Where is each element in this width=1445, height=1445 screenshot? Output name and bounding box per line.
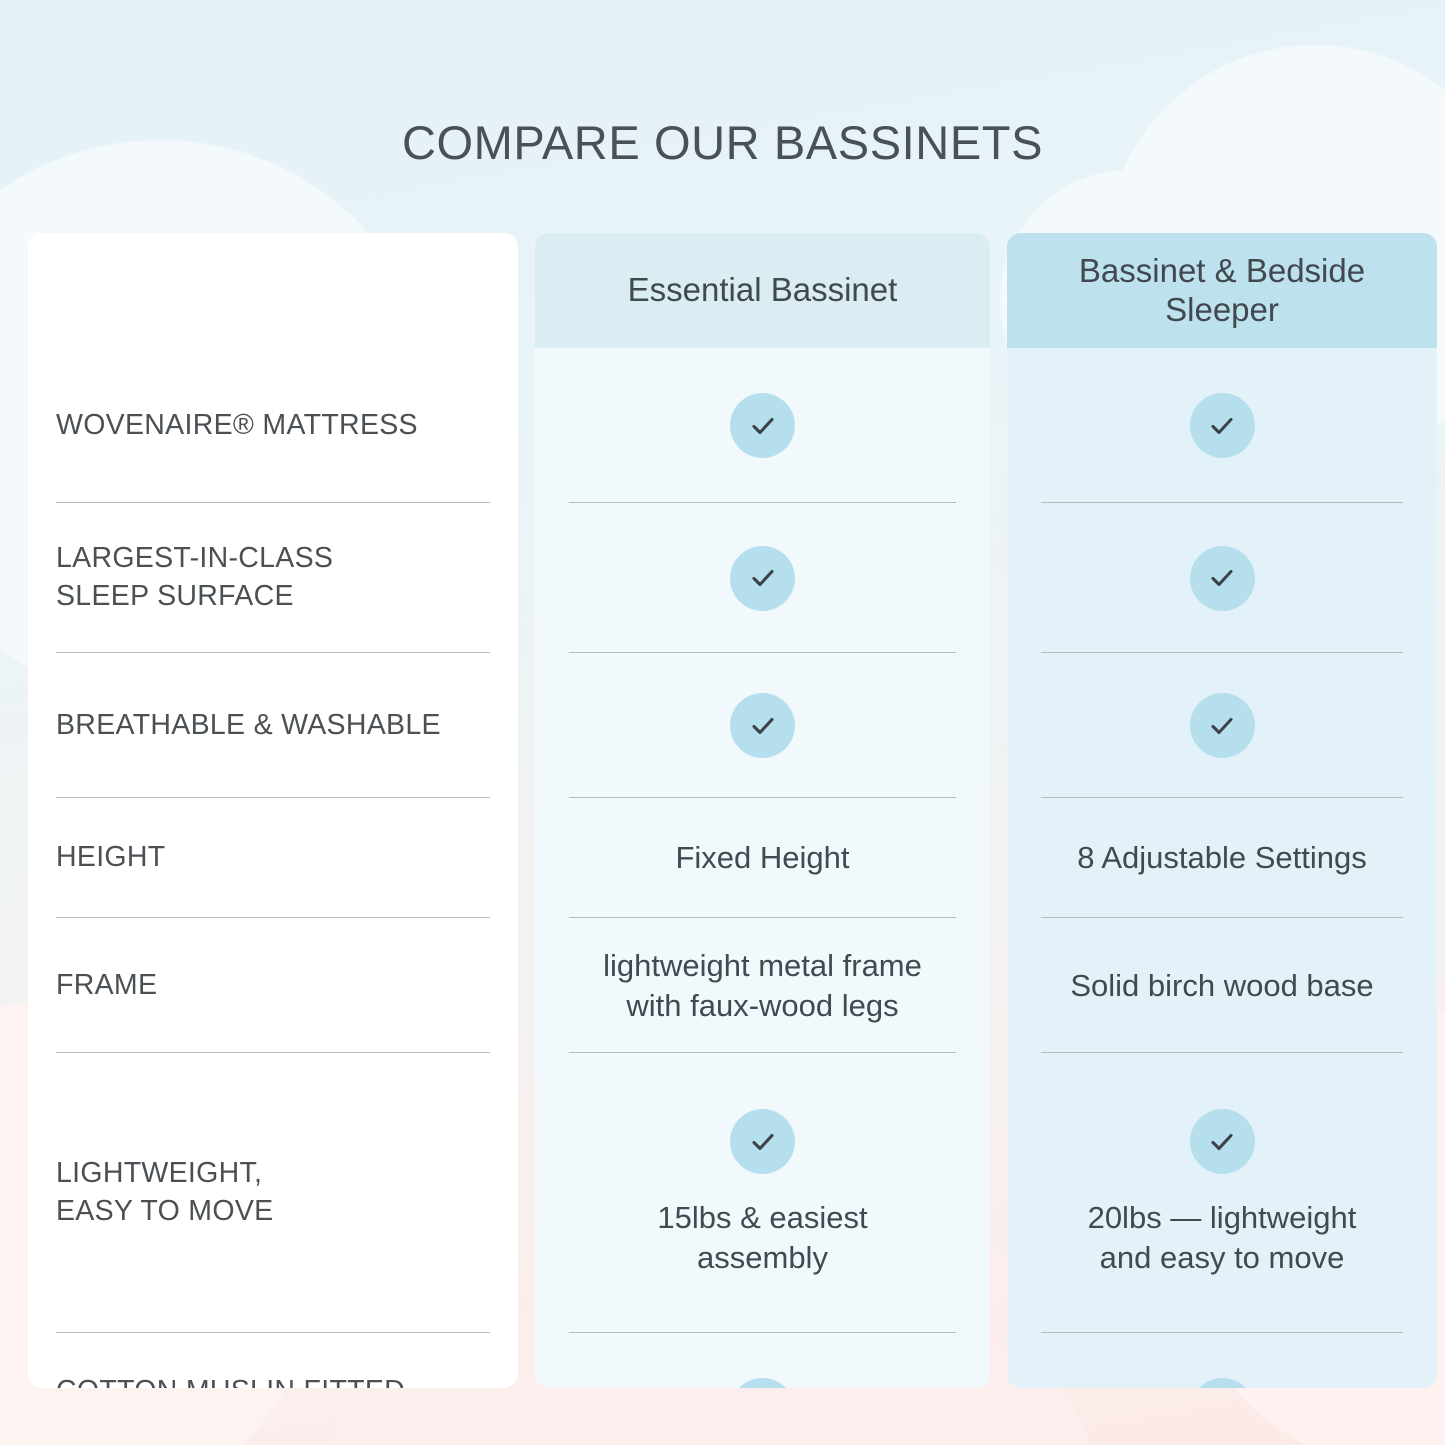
check-icon [730, 393, 795, 458]
feature-row-height: HEIGHT [28, 798, 518, 918]
feature-label: WOVENAIRE® MATTRESS [56, 407, 418, 445]
feature-row-lightweight-easy-to-move: LIGHTWEIGHT, EASY TO MOVE [28, 1053, 518, 1333]
feature-label: FRAME [56, 967, 157, 1005]
value-cell-wovenaire-mattress [535, 348, 990, 503]
check-icon [730, 1109, 795, 1174]
check-icon [730, 1378, 795, 1388]
value-text: 8 Adjustable Settings [1077, 838, 1367, 877]
label-column-header-blank [28, 233, 518, 348]
value-text: lightweight metal frame with faux-wood l… [603, 946, 922, 1025]
product-value-list-essential-bassinet: Fixed Height lightweight metal frame wit… [535, 348, 990, 1388]
check-icon [1190, 546, 1255, 611]
feature-row-frame: FRAME [28, 918, 518, 1053]
check-icon [730, 693, 795, 758]
value-text: 15lbs & easiest assembly [657, 1198, 867, 1277]
value-cell-lightweight-easy-to-move: 15lbs & easiest assembly [535, 1053, 990, 1333]
feature-label: LIGHTWEIGHT, EASY TO MOVE [56, 1155, 273, 1231]
value-cell-cotton-muslin-fitted-sheet [535, 1333, 990, 1388]
value-cell-height: 8 Adjustable Settings [1007, 798, 1437, 918]
feature-label-column: WOVENAIRE® MATTRESS LARGEST-IN-CLASS SLE… [28, 233, 518, 1388]
check-icon [1190, 393, 1255, 458]
value-cell-frame: lightweight metal frame with faux-wood l… [535, 918, 990, 1053]
product-column-bassinet-bedside-sleeper[interactable]: Bassinet & Bedside Sleeper 8 Adjustable … [1007, 233, 1437, 1388]
check-icon [1190, 1109, 1255, 1174]
feature-label: BREATHABLE & WASHABLE [56, 707, 441, 745]
value-cell-frame: Solid birch wood base [1007, 918, 1437, 1053]
value-cell-cotton-muslin-fitted-sheet [1007, 1333, 1437, 1388]
check-icon [1190, 1378, 1255, 1388]
value-text: Fixed Height [675, 838, 849, 877]
value-text: 20lbs — lightweight and easy to move [1088, 1198, 1357, 1277]
feature-row-breathable-washable: BREATHABLE & WASHABLE [28, 653, 518, 798]
value-cell-largest-in-class-sleep-surface [1007, 503, 1437, 653]
feature-row-cotton-muslin-fitted-sheet: COTTON MUSLIN FITTED SHEET INCLUDED [28, 1333, 518, 1388]
check-icon [730, 546, 795, 611]
value-cell-height: Fixed Height [535, 798, 990, 918]
value-cell-wovenaire-mattress [1007, 348, 1437, 503]
product-column-header-bassinet-bedside-sleeper: Bassinet & Bedside Sleeper [1007, 233, 1437, 348]
feature-label: LARGEST-IN-CLASS SLEEP SURFACE [56, 540, 333, 616]
value-cell-breathable-washable [535, 653, 990, 798]
comparison-table: WOVENAIRE® MATTRESS LARGEST-IN-CLASS SLE… [28, 233, 1418, 1388]
feature-label-list: WOVENAIRE® MATTRESS LARGEST-IN-CLASS SLE… [28, 348, 518, 1388]
value-cell-largest-in-class-sleep-surface [535, 503, 990, 653]
value-cell-lightweight-easy-to-move: 20lbs — lightweight and easy to move [1007, 1053, 1437, 1333]
product-column-header-essential-bassinet: Essential Bassinet [535, 233, 990, 348]
feature-label: COTTON MUSLIN FITTED SHEET INCLUDED [56, 1373, 405, 1388]
product-value-list-bassinet-bedside-sleeper: 8 Adjustable Settings Solid birch wood b… [1007, 348, 1437, 1388]
feature-row-wovenaire-mattress: WOVENAIRE® MATTRESS [28, 348, 518, 503]
value-text: Solid birch wood base [1070, 966, 1373, 1005]
product-column-essential-bassinet[interactable]: Essential Bassinet Fixed Height [535, 233, 990, 1388]
feature-label: HEIGHT [56, 839, 165, 877]
check-icon [1190, 693, 1255, 758]
feature-row-largest-in-class-sleep-surface: LARGEST-IN-CLASS SLEEP SURFACE [28, 503, 518, 653]
value-cell-breathable-washable [1007, 653, 1437, 798]
page-title: COMPARE OUR BASSINETS [0, 115, 1445, 170]
